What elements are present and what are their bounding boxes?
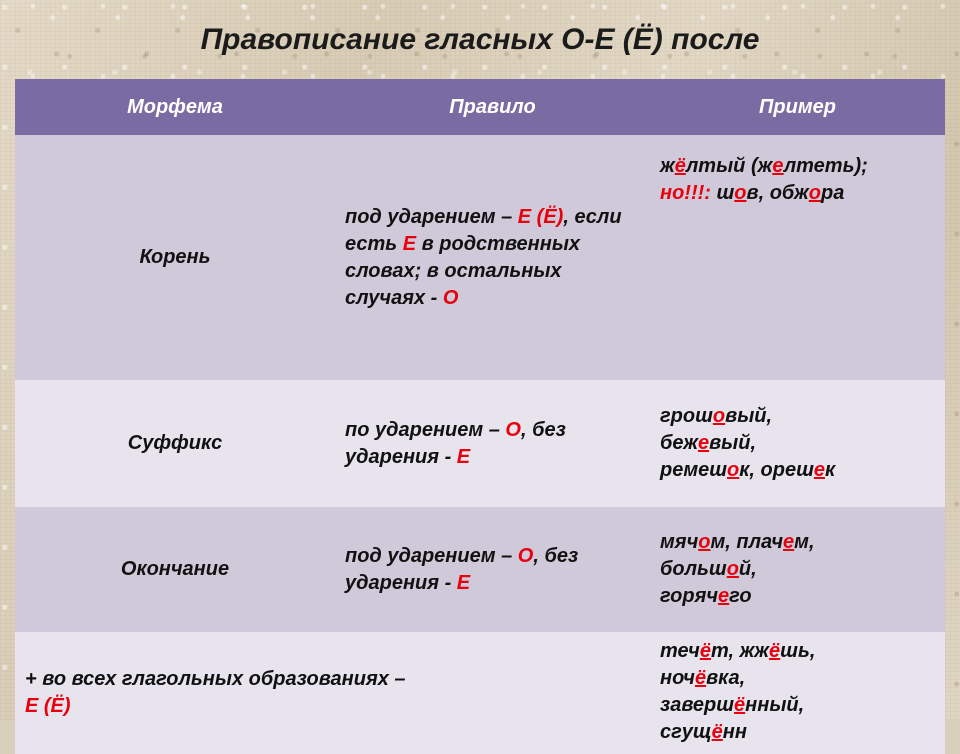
table-row: Суффикс по ударением – О, без ударения -… xyxy=(15,380,945,507)
cell-morpheme: Корень xyxy=(15,135,335,380)
table-row-footer: + во всех глагольных образованиях – Е (Ё… xyxy=(15,632,945,754)
table-row: Окончание под ударением – О, без ударени… xyxy=(15,507,945,632)
table-header: Морфема Правило Пример xyxy=(15,79,945,135)
column-header-rule: Правило xyxy=(335,79,650,135)
cell-example: мячом, плачем,большой,горячего xyxy=(650,507,945,632)
table-row: Корень под ударением – Е (Ё), если есть … xyxy=(15,135,945,380)
slide-page: Правописание гласных О-Е (Ё) после Морфе… xyxy=(0,0,960,720)
cell-verb-note: + во всех глагольных образованиях – Е (Ё… xyxy=(15,632,650,754)
cell-example: жёлтый (желтеть);но!!!: шов, обжора xyxy=(650,135,945,380)
cell-rule: под ударением – О, без ударения - Е xyxy=(335,507,650,632)
cell-example: грошовый,бежевый,ремешок, орешек xyxy=(650,380,945,507)
cell-morpheme: Окончание xyxy=(15,507,335,632)
table-header-row: Морфема Правило Пример xyxy=(15,79,945,135)
rules-table-wrapper: Морфема Правило Пример Корень под ударен… xyxy=(15,79,945,754)
cell-example: течёт, жжёшь,ночёвка,завершённый,сгущённ xyxy=(650,632,945,754)
cell-rule: под ударением – Е (Ё), если есть Е в род… xyxy=(335,135,650,380)
cell-rule: по ударением – О, без ударения - Е xyxy=(335,380,650,507)
rules-table: Морфема Правило Пример Корень под ударен… xyxy=(15,79,945,754)
column-header-example: Пример xyxy=(650,79,945,135)
table-body: Корень под ударением – Е (Ё), если есть … xyxy=(15,135,945,754)
page-title: Правописание гласных О-Е (Ё) после xyxy=(0,22,960,58)
cell-morpheme: Суффикс xyxy=(15,380,335,507)
column-header-morpheme: Морфема xyxy=(15,79,335,135)
